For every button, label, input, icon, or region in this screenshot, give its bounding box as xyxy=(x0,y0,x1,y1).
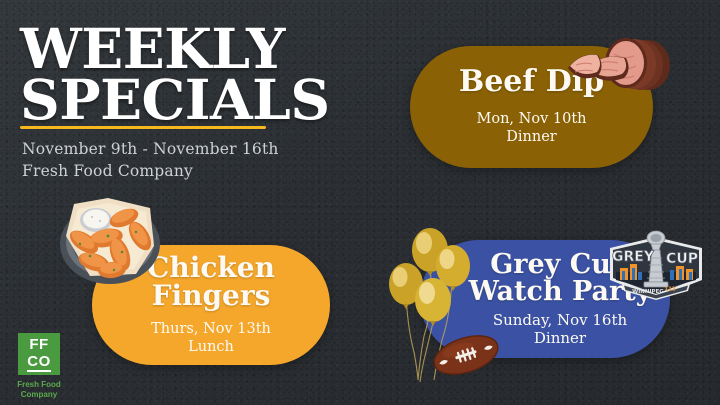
grey-cup-badge-location: WINNIPEG xyxy=(632,289,664,295)
page-title: WEEKLY SPECIALS xyxy=(20,24,420,125)
ffco-logo-line1: FF xyxy=(29,337,48,352)
roast-beef-slices-icon xyxy=(556,32,672,104)
ffco-logo: FF CO Fresh Food Company xyxy=(10,333,68,400)
card-subtitle-grey-cup: Sunday, Nov 16th Dinner xyxy=(493,311,627,348)
ffco-logo-mark: FF CO xyxy=(18,333,60,375)
grey-cup-badge-edition: 112 xyxy=(664,287,676,293)
grey-cup-logo-icon: GREY CUP WINNIPEG 112 xyxy=(604,228,708,306)
ffco-logo-wordmark: Fresh Food Company xyxy=(10,380,68,400)
header-subline: November 9th - November 16th Fresh Food … xyxy=(22,138,352,182)
accent-divider xyxy=(20,126,266,129)
grey-cup-badge-title-top: GREY xyxy=(612,249,655,265)
ffco-logo-line2: CO xyxy=(27,354,51,372)
card-subtitle-beef-dip: Mon, Nov 10th Dinner xyxy=(477,111,587,146)
grey-cup-badge-title-bottom: CUP xyxy=(666,251,698,267)
weekly-specials-poster: WEEKLY SPECIALS November 9th - November … xyxy=(0,0,720,405)
card-subtitle-chicken-fingers: Thurs, Nov 13th Lunch xyxy=(151,321,271,356)
football-icon xyxy=(430,330,502,380)
header-block: WEEKLY SPECIALS xyxy=(20,24,420,125)
chicken-tenders-plate-icon xyxy=(50,192,172,288)
